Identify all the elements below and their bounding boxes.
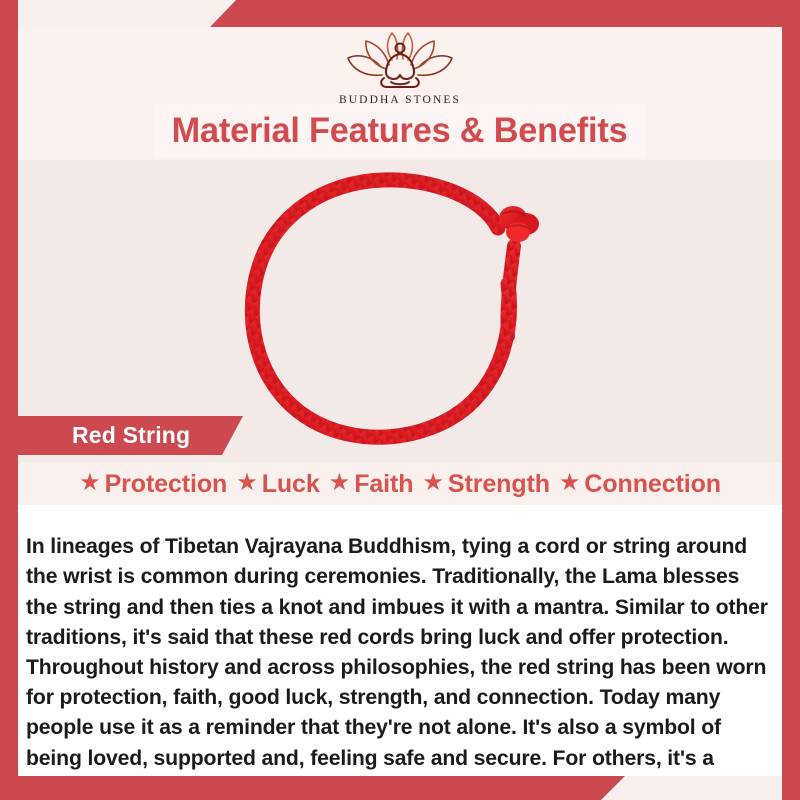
benefit-item-luck: ★ Luck: [236, 470, 319, 499]
benefit-item-strength: ★ Strength: [422, 470, 550, 499]
lotus-meditation-icon: [334, 29, 466, 93]
benefits-list: ★ Protection ★ Luck ★ Faith ★ Strength ★…: [18, 463, 782, 505]
benefit-item-connection: ★ Connection: [559, 470, 721, 499]
star-icon: ★: [236, 471, 258, 495]
frame-band-right: [782, 0, 800, 800]
red-string-bracelet-icon: [230, 166, 570, 456]
page-title-text: Material Features & Benefits: [172, 111, 628, 151]
benefit-label: Strength: [448, 470, 550, 499]
benefit-label: Luck: [262, 470, 320, 499]
brand-logo: BUDDHA STONES: [18, 27, 782, 106]
product-name-banner: Red String: [18, 416, 243, 455]
star-icon: ★: [79, 471, 101, 495]
frame-band-bottom: [0, 776, 625, 800]
poster-canvas: BUDDHA STONES Material Features & Benefi…: [0, 0, 800, 800]
benefit-item-protection: ★ Protection: [79, 470, 227, 499]
product-name-label: Red String: [72, 422, 190, 449]
description-section: In lineages of Tibetan Vajrayana Buddhis…: [18, 505, 782, 776]
frame-band-left: [0, 0, 18, 800]
benefit-label: Faith: [354, 470, 413, 499]
star-icon: ★: [559, 471, 581, 495]
benefit-label: Connection: [584, 470, 721, 499]
star-icon: ★: [329, 471, 351, 495]
benefit-label: Protection: [105, 470, 228, 499]
star-icon: ★: [422, 471, 444, 495]
frame-band-top: [210, 0, 800, 27]
benefit-item-faith: ★ Faith: [329, 470, 414, 499]
page-title: Material Features & Benefits: [155, 104, 645, 158]
description-text: In lineages of Tibetan Vajrayana Buddhis…: [26, 532, 776, 800]
